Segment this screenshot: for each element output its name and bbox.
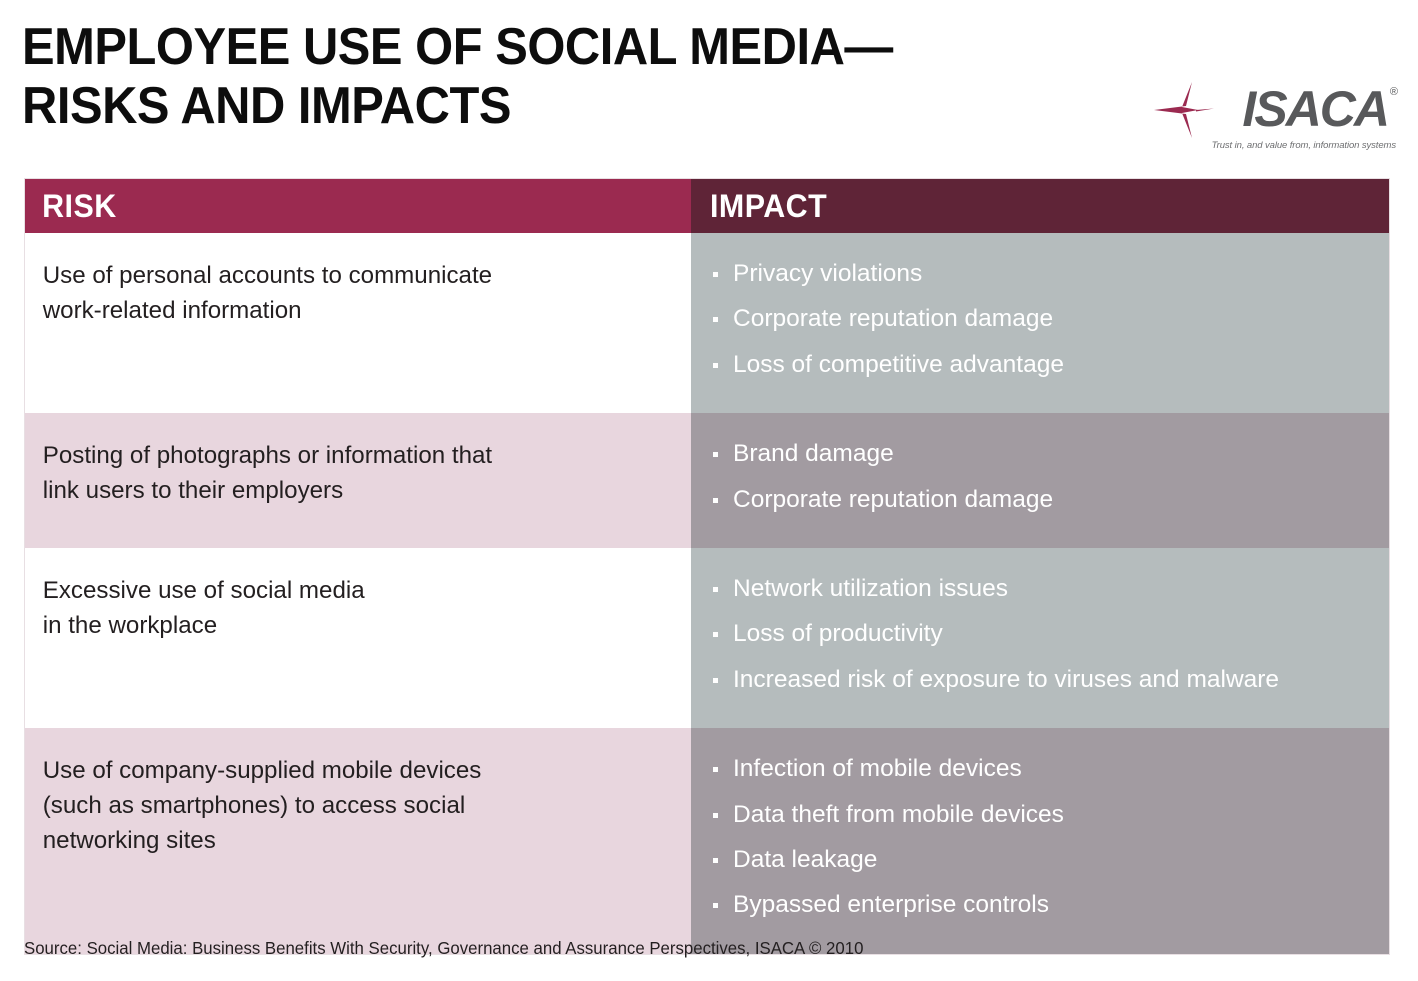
list-item: Brand damage — [711, 435, 1371, 480]
list-item: Network utilization issues — [711, 570, 1371, 615]
table-row: Excessive use of social media in the wor… — [25, 548, 1389, 728]
table-row: Use of company-supplied mobile devices (… — [25, 728, 1389, 954]
impact-list: Infection of mobile devices Data theft f… — [691, 728, 1389, 954]
risk-cell: Use of company-supplied mobile devices (… — [25, 728, 691, 954]
column-header-impact-label: IMPACT — [691, 188, 827, 225]
impact-text: Privacy violations — [733, 260, 922, 287]
risk-text: Posting of photographs or information th… — [25, 413, 681, 535]
source-note: Source: Social Media: Business Benefits … — [24, 938, 863, 959]
bullet-icon — [713, 632, 718, 637]
bullet-icon — [713, 767, 718, 772]
risk-text: Use of company-supplied mobile devices (… — [25, 728, 681, 884]
bullet-icon — [713, 272, 718, 277]
risk-cell: Posting of photographs or information th… — [25, 413, 691, 548]
logo-tagline: Trust in, and value from, information sy… — [1150, 140, 1396, 151]
impact-text: Data leakage — [733, 846, 877, 873]
table-row: Posting of photographs or information th… — [25, 413, 1389, 548]
impact-text: Bypassed enterprise controls — [733, 891, 1049, 918]
impact-text: Network utilization issues — [733, 575, 1008, 602]
list-item: Corporate reputation damage — [711, 481, 1371, 526]
list-item: Data leakage — [711, 841, 1371, 886]
impact-text: Brand damage — [733, 440, 894, 467]
bullet-icon — [713, 363, 718, 368]
title-band: EMPLOYEE USE OF SOCIAL MEDIA— RISKS AND … — [0, 0, 1418, 178]
registered-mark: ® — [1390, 86, 1398, 98]
impact-text: Data theft from mobile devices — [733, 801, 1064, 828]
impact-list: Network utilization issues Loss of produ… — [691, 548, 1389, 728]
list-item: Infection of mobile devices — [711, 750, 1371, 795]
logo-wordmark-text: ISACA — [1242, 84, 1388, 134]
bullet-icon — [713, 587, 718, 592]
list-item: Data theft from mobile devices — [711, 796, 1371, 841]
isaca-logo: ISACA ® Trust in, and value from, inform… — [1148, 78, 1398, 170]
list-item: Loss of competitive advantage — [711, 346, 1371, 391]
page-title: EMPLOYEE USE OF SOCIAL MEDIA— RISKS AND … — [22, 18, 1056, 137]
bullet-icon — [713, 452, 718, 457]
column-header-risk-label: RISK — [25, 188, 117, 225]
bullet-icon — [713, 813, 718, 818]
table-row: Use of personal accounts to communicate … — [25, 233, 1389, 413]
bullet-icon — [713, 858, 718, 863]
bullet-icon — [713, 678, 718, 683]
list-item: Increased risk of exposure to viruses an… — [711, 661, 1371, 706]
risk-text: Excessive use of social media in the wor… — [25, 548, 681, 670]
impact-cell: Brand damage Corporate reputation damage — [691, 413, 1389, 548]
impact-text: Loss of productivity — [733, 620, 943, 647]
risk-cell: Excessive use of social media in the wor… — [25, 548, 691, 728]
column-header-risk: RISK — [25, 179, 691, 233]
bullet-icon — [713, 903, 718, 908]
impact-cell: Privacy violations Corporate reputation … — [691, 233, 1389, 413]
impact-cell: Infection of mobile devices Data theft f… — [691, 728, 1389, 954]
column-header-impact: IMPACT — [691, 179, 1389, 233]
list-item: Privacy violations — [711, 255, 1371, 300]
impact-list: Brand damage Corporate reputation damage — [691, 413, 1389, 548]
impact-cell: Network utilization issues Loss of produ… — [691, 548, 1389, 728]
bullet-icon — [713, 498, 718, 503]
list-item: Loss of productivity — [711, 615, 1371, 660]
impact-text: Corporate reputation damage — [733, 305, 1053, 332]
risk-text: Use of personal accounts to communicate … — [25, 233, 681, 355]
impact-text: Loss of competitive advantage — [733, 351, 1064, 378]
impact-text: Corporate reputation damage — [733, 486, 1053, 513]
impact-list: Privacy violations Corporate reputation … — [691, 233, 1389, 413]
table-header-row: RISK IMPACT — [25, 179, 1389, 233]
list-item: Bypassed enterprise controls — [711, 886, 1371, 931]
impact-text: Increased risk of exposure to viruses an… — [733, 666, 1279, 693]
four-point-star-icon — [1152, 82, 1228, 138]
risk-impact-table: RISK IMPACT Use of personal accounts to … — [24, 178, 1390, 955]
bullet-icon — [713, 317, 718, 322]
risk-cell: Use of personal accounts to communicate … — [25, 233, 691, 413]
logo-wordmark-row: ISACA ® — [1148, 78, 1398, 140]
impact-text: Infection of mobile devices — [733, 755, 1022, 782]
list-item: Corporate reputation damage — [711, 300, 1371, 345]
